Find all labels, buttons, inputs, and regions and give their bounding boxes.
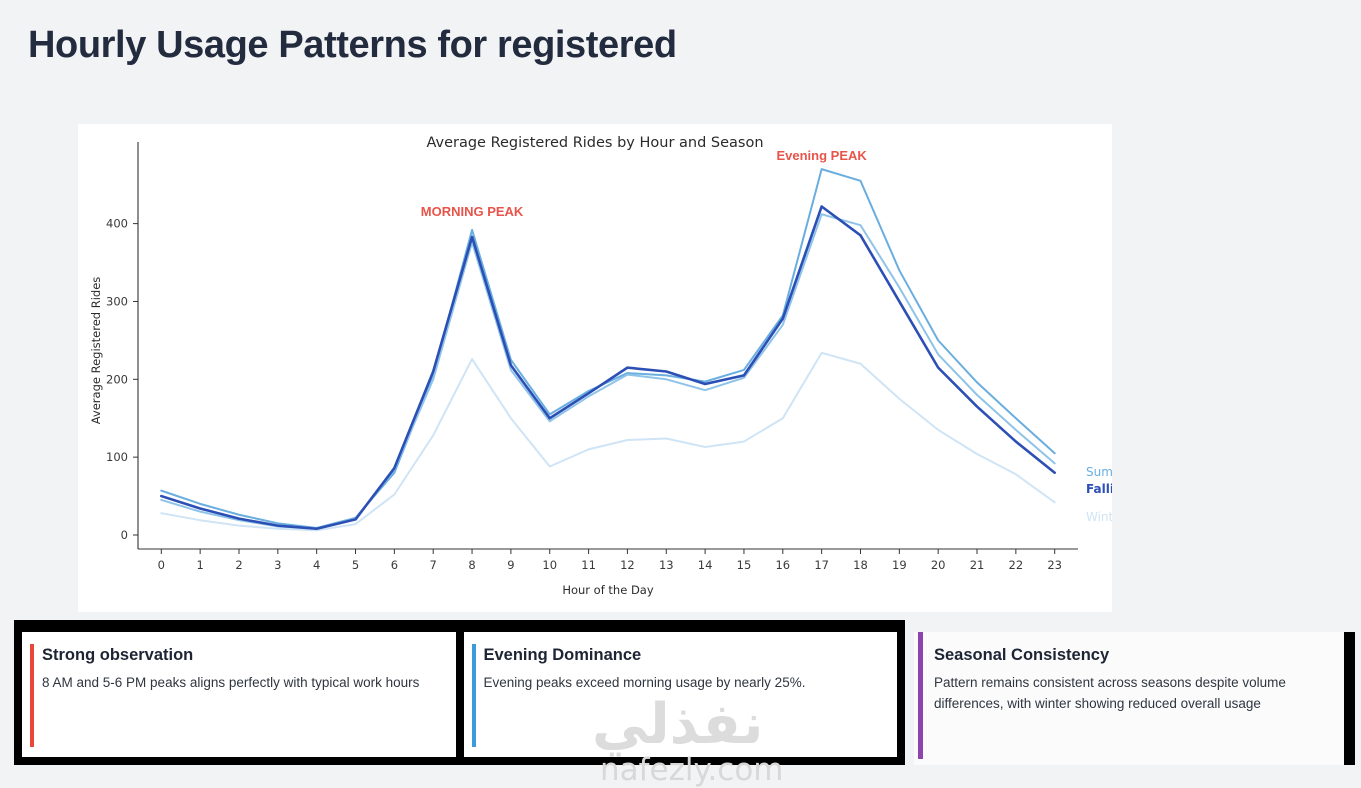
series-line-summer xyxy=(161,169,1054,528)
x-axis-tick-label: 5 xyxy=(352,558,359,572)
x-axis-tick-label: 15 xyxy=(737,558,752,572)
x-axis-tick-label: 10 xyxy=(542,558,557,572)
y-axis-tick-label: 100 xyxy=(106,450,128,464)
peak-annotation: Evening PEAK xyxy=(776,148,867,163)
insight-card-body: 8 AM and 5-6 PM peaks aligns perfectly w… xyxy=(42,673,440,694)
x-axis-tick-label: 22 xyxy=(1009,558,1024,572)
legend-label-falling: Falling xyxy=(1086,482,1112,496)
x-axis-tick-label: 11 xyxy=(581,558,596,572)
x-axis-tick-label: 2 xyxy=(235,558,242,572)
x-axis-tick-label: 3 xyxy=(274,558,281,572)
insight-cards-selection-frame: Strong observation 8 AM and 5-6 PM peaks… xyxy=(14,620,905,765)
x-axis-tick-label: 0 xyxy=(158,558,165,572)
x-axis-tick-label: 16 xyxy=(775,558,790,572)
x-axis-tick-label: 18 xyxy=(853,558,868,572)
legend-label-summer: Summer xyxy=(1086,465,1112,479)
page-title: Hourly Usage Patterns for registered xyxy=(28,24,677,67)
series-line-spring xyxy=(161,214,1054,528)
x-axis-tick-label: 4 xyxy=(313,558,320,572)
insight-card-seasonal-consistency[interactable]: Seasonal Consistency Pattern remains con… xyxy=(914,632,1344,765)
y-axis-tick-label: 300 xyxy=(106,294,128,308)
insight-card-strong-observation[interactable]: Strong observation 8 AM and 5-6 PM peaks… xyxy=(22,632,456,757)
x-axis-title: Hour of the Day xyxy=(562,583,654,597)
insight-card-body: Evening peaks exceed morning usage by ne… xyxy=(484,673,882,694)
card-accent-bar-red xyxy=(30,644,34,747)
legend-label-winter: Winter xyxy=(1086,510,1112,524)
x-axis-tick-label: 1 xyxy=(196,558,203,572)
y-axis-title: Average Registered Rides xyxy=(89,277,103,425)
line-chart: 0100200300400012345678910111213141516171… xyxy=(78,124,1112,612)
x-axis-tick-label: 6 xyxy=(391,558,398,572)
x-axis-tick-label: 8 xyxy=(468,558,475,572)
x-axis-tick-label: 19 xyxy=(892,558,907,572)
insight-cards-row: Strong observation 8 AM and 5-6 PM peaks… xyxy=(0,620,1361,780)
x-axis-tick-label: 13 xyxy=(659,558,674,572)
insight-card-title: Seasonal Consistency xyxy=(934,646,1326,665)
series-line-fall xyxy=(161,206,1054,528)
x-axis-tick-label: 17 xyxy=(814,558,829,572)
card-accent-bar-blue xyxy=(472,644,476,747)
x-axis-tick-label: 20 xyxy=(931,558,946,572)
card-accent-bar-purple xyxy=(918,632,923,759)
x-axis-tick-label: 14 xyxy=(698,558,713,572)
y-axis-tick-label: 400 xyxy=(106,217,128,231)
x-axis-tick-label: 21 xyxy=(970,558,985,572)
chart-panel: Average Registered Rides by Hour and Sea… xyxy=(78,124,1112,612)
x-axis-tick-label: 7 xyxy=(430,558,437,572)
x-axis-tick-label: 12 xyxy=(620,558,635,572)
insight-card-title: Strong observation xyxy=(42,646,440,665)
insight-card-title: Evening Dominance xyxy=(484,646,882,665)
card-frame-right-edge xyxy=(1344,632,1355,765)
peak-annotation: MORNING PEAK xyxy=(421,204,524,219)
insight-card-evening-dominance[interactable]: Evening Dominance Evening peaks exceed m… xyxy=(464,632,898,757)
x-axis-tick-label: 9 xyxy=(507,558,514,572)
y-axis-tick-label: 0 xyxy=(121,528,128,542)
y-axis-tick-label: 200 xyxy=(106,372,128,386)
x-axis-tick-label: 23 xyxy=(1047,558,1062,572)
insight-card-body: Pattern remains consistent across season… xyxy=(934,673,1326,715)
